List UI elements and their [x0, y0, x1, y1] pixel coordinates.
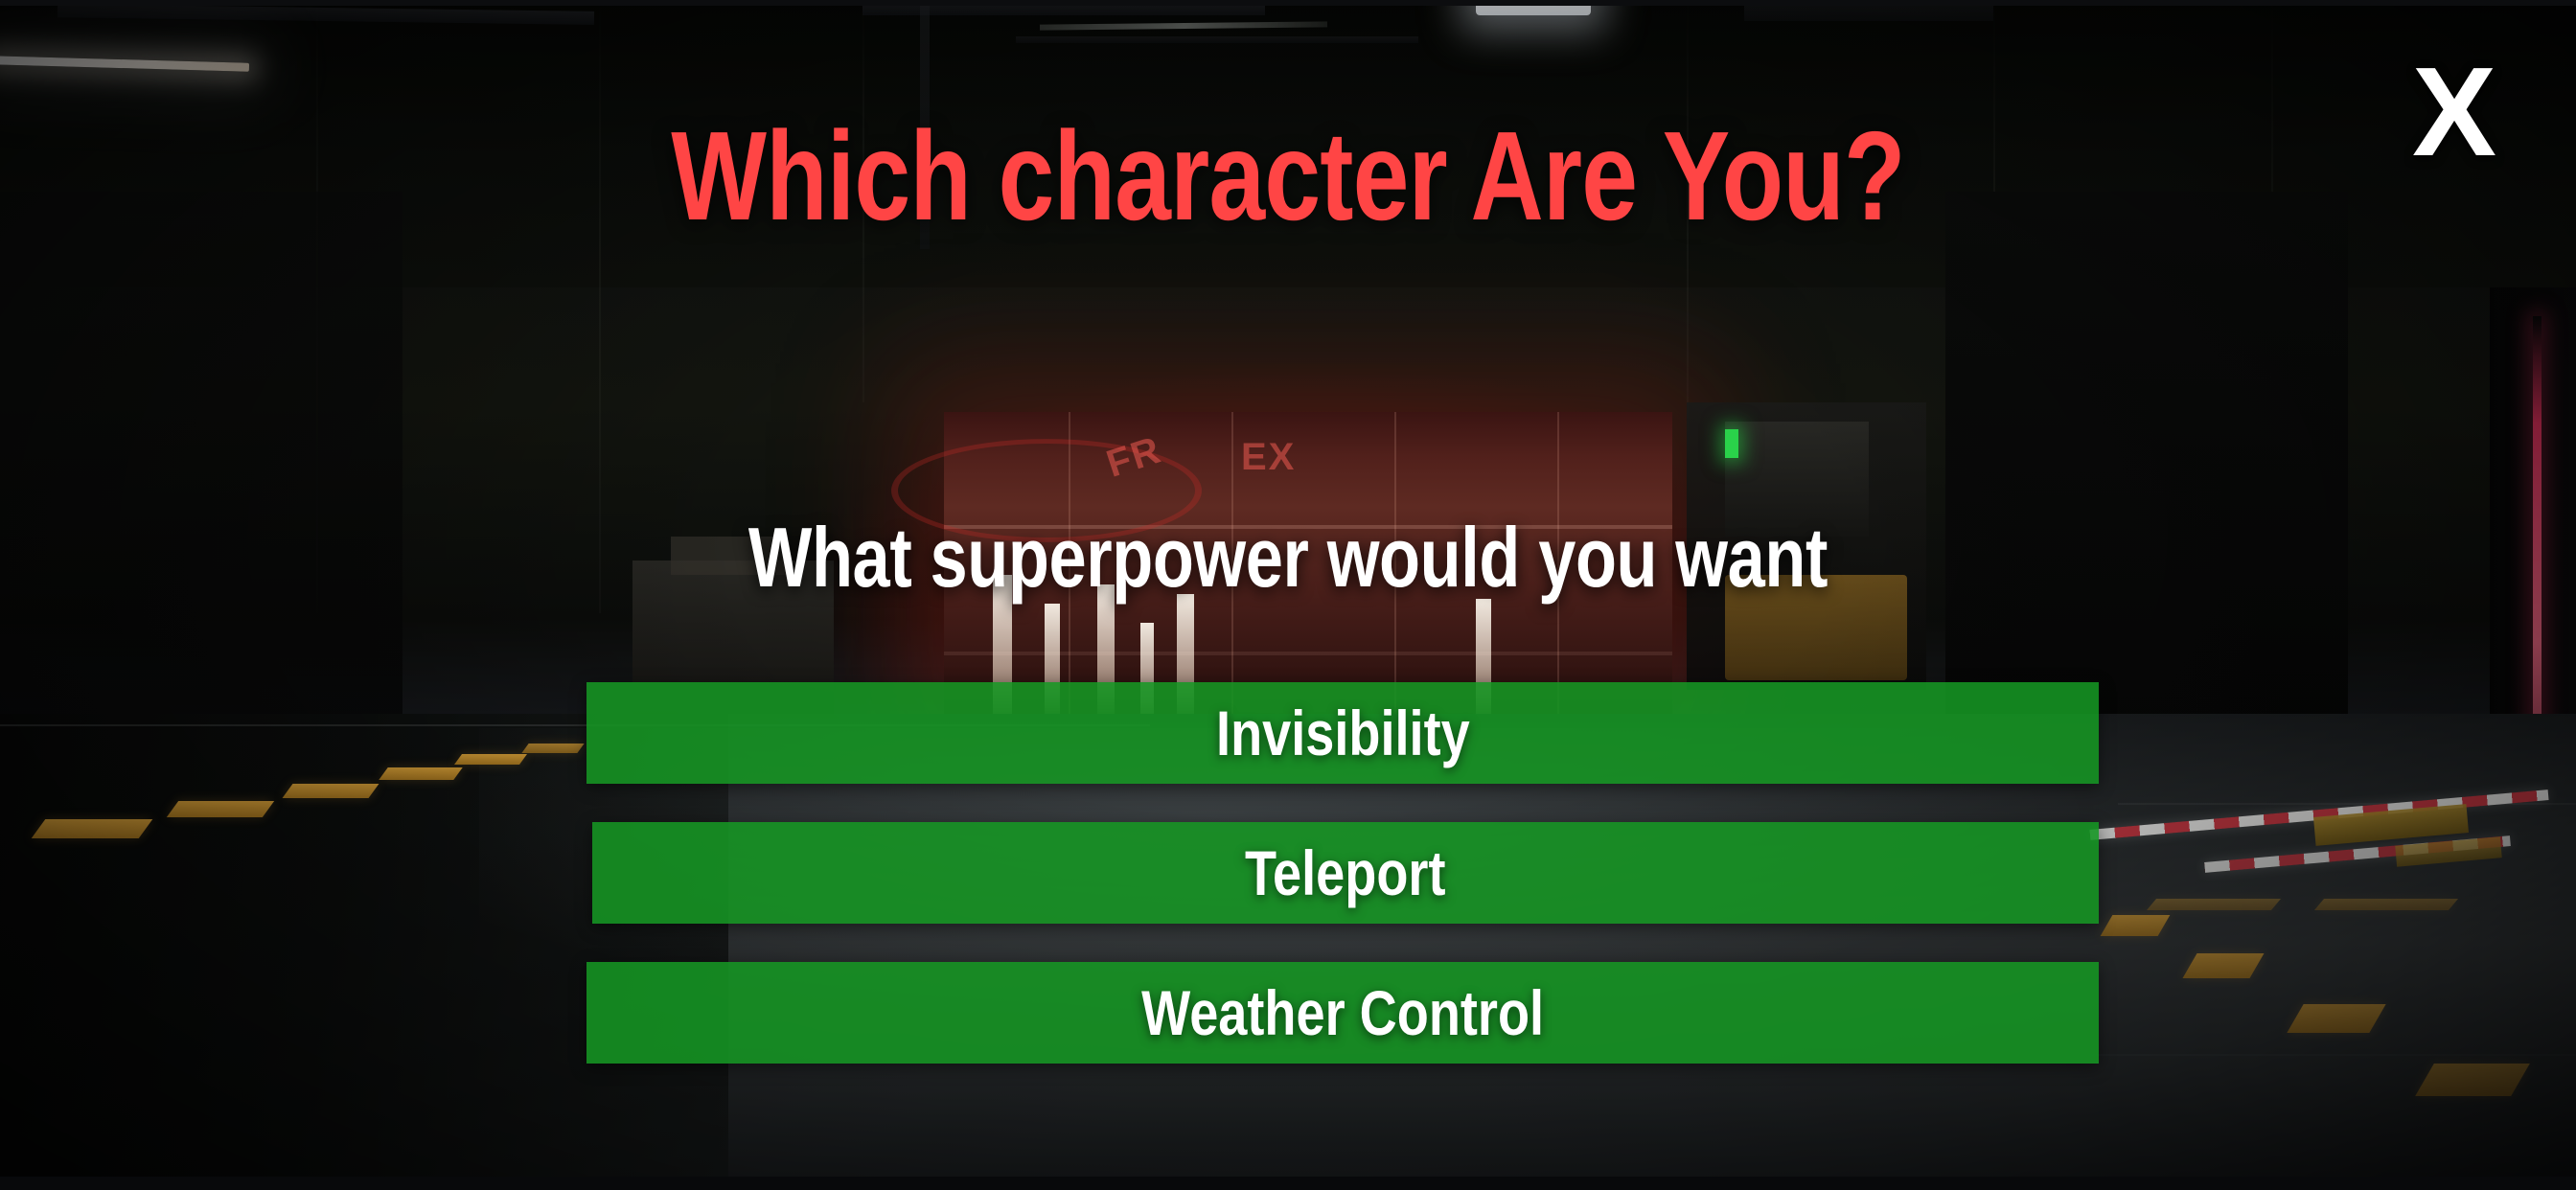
- quiz-overlay: X Which character Are You? What superpow…: [0, 0, 2576, 1190]
- answer-option-label: Invisibility: [1216, 701, 1470, 765]
- answer-option-label: Teleport: [1245, 841, 1445, 904]
- answer-option-weather-control[interactable]: Weather Control: [586, 962, 2099, 1064]
- page-title: Which character Are You?: [258, 113, 2318, 240]
- answer-option-label: Weather Control: [1141, 981, 1544, 1044]
- quiz-screen: EX FR: [0, 0, 2576, 1190]
- close-button[interactable]: X: [2382, 40, 2526, 184]
- question-text: What superpower would you want: [258, 515, 2318, 600]
- answer-option-teleport[interactable]: Teleport: [592, 822, 2099, 924]
- answer-option-invisibility[interactable]: Invisibility: [586, 682, 2099, 784]
